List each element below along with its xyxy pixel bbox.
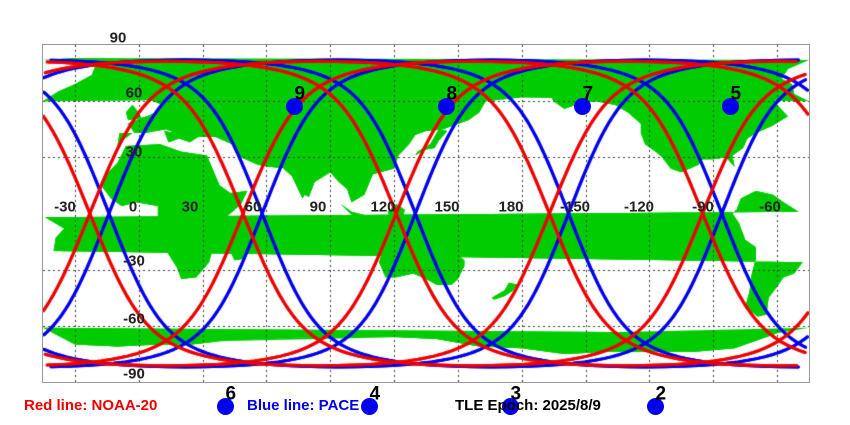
lon-tick-5: 120 — [370, 200, 395, 215]
lat-tick-5: -90 — [123, 367, 145, 382]
node-label: 7 — [583, 85, 594, 104]
lon-tick-3: 60 — [245, 200, 262, 215]
lon-tick-11: -60 — [759, 200, 781, 215]
node-label: 5 — [731, 85, 742, 104]
lon-tick-2: 30 — [182, 200, 199, 215]
lon-tick-0: -30 — [54, 200, 76, 215]
lat-tick-1: 60 — [126, 86, 143, 101]
satellite-ground-track-figure: -300306090120150180-150-120-90-60 906030… — [0, 0, 850, 425]
node-marker-9: 9 — [286, 98, 303, 115]
legend-blue-line-pace: Blue line: PACE — [247, 398, 359, 413]
lon-tick-1: 0 — [129, 200, 137, 215]
legend-red-line-noaa20: Red line: NOAA-20 — [24, 398, 157, 413]
lon-tick-10: -90 — [692, 200, 714, 215]
lon-tick-7: 180 — [498, 200, 523, 215]
node-marker-5: 5 — [722, 98, 739, 115]
node-label: 8 — [447, 85, 458, 104]
node-label: 9 — [295, 85, 306, 104]
node-marker-7: 7 — [574, 98, 591, 115]
lat-tick-4: -60 — [123, 312, 145, 327]
lon-tick-9: -120 — [624, 200, 654, 215]
lat-tick-0: 90 — [110, 31, 127, 46]
node-marker-8: 8 — [438, 98, 455, 115]
legend: Red line: NOAA-20 Blue line: PACE TLE Ep… — [0, 396, 850, 420]
lon-tick-6: 150 — [434, 200, 459, 215]
lon-tick-4: 90 — [310, 200, 327, 215]
legend-tle-epoch: TLE Epoch: 2025/8/9 — [455, 398, 601, 413]
lat-tick-3: -30 — [123, 254, 145, 269]
lat-tick-2: 30 — [126, 145, 143, 160]
lon-tick-8: -150 — [560, 200, 590, 215]
